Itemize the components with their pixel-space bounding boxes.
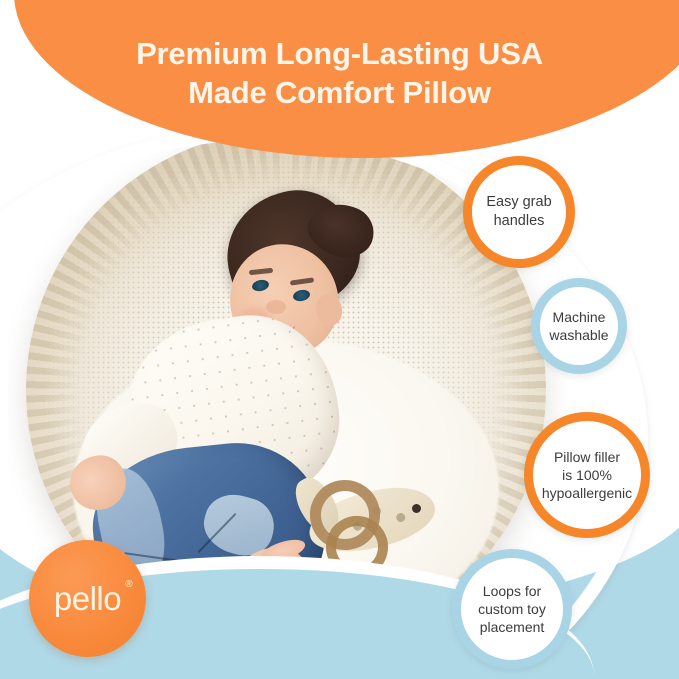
giraffe-eye-icon [412,504,421,513]
product-infographic: Premium Long-Lasting USA Made Comfort Pi… [0,0,679,679]
page-title: Premium Long-Lasting USA Made Comfort Pi… [0,34,679,113]
callout-text: Loops for custom toy placement [469,582,555,637]
baby-nose-icon [266,300,286,314]
page-title-line-1: Premium Long-Lasting USA [70,34,609,73]
registered-trademark-icon: ® [125,580,132,590]
callout-toy-loops[interactable]: Loops for custom toy placement [452,549,572,669]
pello-logo-badge[interactable]: pello ® [29,540,146,657]
callout-easy-grab-handles[interactable]: Easy grab handles [463,156,575,268]
callout-hypoallergenic-filler[interactable]: Pillow filler is 100% hypoallergenic [524,412,650,538]
pello-wordmark: pello ® [54,582,121,615]
page-title-line-2: Made Comfort Pillow [70,73,609,112]
callout-text: Pillow filler is 100% hypoallergenic [533,448,641,503]
callout-text: Machine washable [540,308,617,344]
callout-text: Easy grab handles [477,193,560,231]
toy-spot-icon [395,512,406,523]
pello-wordmark-text: pello [54,580,121,617]
callout-machine-washable[interactable]: Machine washable [531,278,627,374]
